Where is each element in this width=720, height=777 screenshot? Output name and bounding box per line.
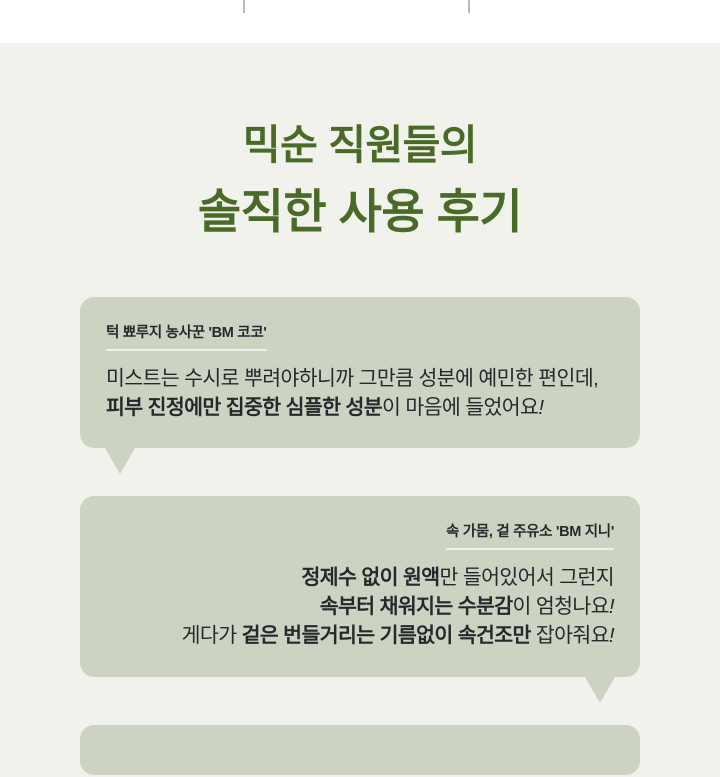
review-bubble: 속 가뭄, 겉 주유소 'BM 지니'정제수 없이 원액만 들어있어서 그런지속…: [80, 496, 640, 676]
review-text-segment: 게다가: [182, 624, 242, 647]
review-body-line: 정제수 없이 원액만 들어있어서 그런지: [106, 563, 614, 592]
review-author: 턱 뾰루지 농사꾼 'BM 코코': [106, 321, 267, 351]
review-body-line: 속부터 채워지는 수분감이 엄청나요!: [106, 592, 614, 621]
review-item: [80, 725, 640, 775]
review-text-segment: 피부 진정에만 집중한 심플한 성분: [106, 396, 382, 419]
review-text-segment: 잡아줘요: [531, 624, 609, 647]
review-text-segment: !: [609, 624, 614, 647]
review-text-segment: 만 들어있어서 그런지: [439, 566, 614, 589]
review-body-line: 게다가 겉은 번들거리는 기름없이 속건조만 잡아줘요!: [106, 621, 614, 650]
tick-mark-left-icon: [243, 0, 245, 13]
page-title-line-1: 믹순 직원들의: [0, 125, 720, 166]
review-text-segment: !: [609, 595, 614, 618]
page-title: 믹순 직원들의 솔직한 사용 후기: [0, 43, 720, 235]
review-body-line: 미스트는 수시로 뿌려야하니까 그만큼 성분에 예민한 편인데,: [106, 364, 614, 393]
review-text-segment: 이 엄청나요: [512, 595, 608, 618]
review-bubble: [80, 725, 640, 775]
tick-mark-right-icon: [468, 0, 470, 13]
review-body: 정제수 없이 원액만 들어있어서 그런지속부터 채워지는 수분감이 엄청나요!게…: [106, 563, 614, 650]
review-item: 속 가뭄, 겉 주유소 'BM 지니'정제수 없이 원액만 들어있어서 그런지속…: [80, 496, 640, 676]
top-white-strip: [0, 0, 720, 43]
review-bubble-tail: [585, 677, 615, 703]
page-title-line-2: 솔직한 사용 후기: [0, 188, 720, 235]
review-text-segment: 정제수 없이 원액: [301, 566, 439, 589]
review-bubble-tail: [105, 448, 135, 474]
review-body-line: 피부 진정에만 집중한 심플한 성분이 마음에 들었어요!: [106, 393, 614, 422]
review-author: 속 가뭄, 겉 주유소 'BM 지니': [446, 520, 614, 550]
review-text-segment: 겉은 번들거리는 기름없이 속건조만: [242, 624, 531, 647]
review-text-segment: !: [538, 396, 543, 419]
review-body: 미스트는 수시로 뿌려야하니까 그만큼 성분에 예민한 편인데,피부 진정에만 …: [106, 364, 614, 422]
review-text-segment: 미스트는 수시로 뿌려야하니까 그만큼 성분에 예민한 편인데,: [106, 367, 598, 390]
review-text-segment: 이 마음에 들었어요: [382, 396, 538, 419]
review-bubble: 턱 뾰루지 농사꾼 'BM 코코'미스트는 수시로 뿌려야하니까 그만큼 성분에…: [80, 297, 640, 448]
review-list: 턱 뾰루지 농사꾼 'BM 코코'미스트는 수시로 뿌려야하니까 그만큼 성분에…: [0, 297, 720, 775]
review-text-segment: 속부터 채워지는 수분감: [320, 595, 513, 618]
review-item: 턱 뾰루지 농사꾼 'BM 코코'미스트는 수시로 뿌려야하니까 그만큼 성분에…: [80, 297, 640, 448]
review-section: 믹순 직원들의 솔직한 사용 후기 턱 뾰루지 농사꾼 'BM 코코'미스트는 …: [0, 43, 720, 777]
